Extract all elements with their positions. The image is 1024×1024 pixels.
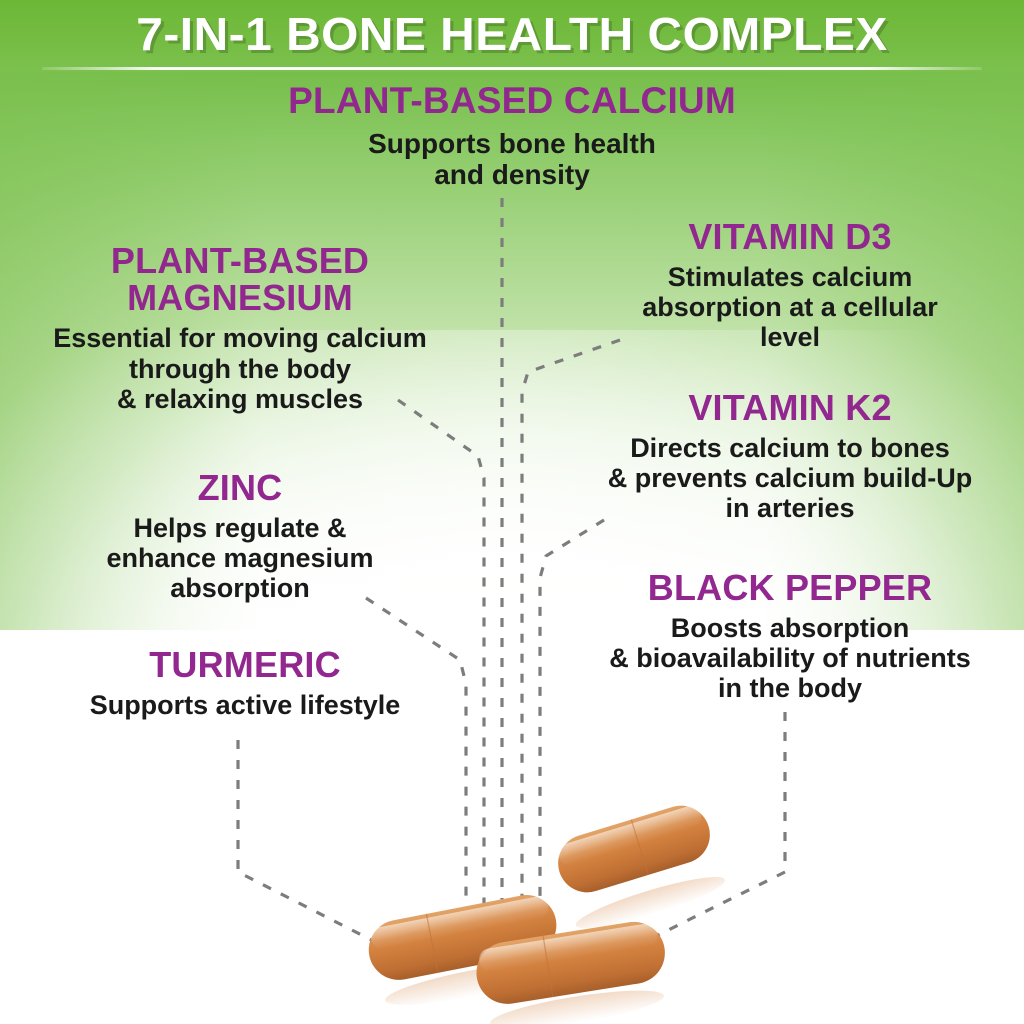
ingredient-zinc: ZINC Helps regulate &enhance magnesiumab… [40, 470, 440, 603]
ingredient-name: TURMERIC [10, 647, 480, 684]
ingredient-description: Helps regulate &enhance magnesiumabsorpt… [40, 513, 440, 604]
ingredient-turmeric: TURMERIC Supports active lifestyle [10, 647, 480, 720]
ingredient-name: PLANT-BASED CALCIUM [182, 82, 842, 120]
ingredient-black-pepper: BLACK PEPPER Boosts absorption& bioavail… [556, 570, 1024, 703]
ingredient-vitamin-d3: VITAMIN D3 Stimulates calciumabsorption … [562, 219, 1018, 352]
ingredient-name: PLANT-BASEDMAGNESIUM [0, 243, 480, 316]
ingredient-name: ZINC [40, 470, 440, 507]
page-title: 7-IN-1 BONE HEALTH COMPLEX [0, 2, 1024, 66]
ingredient-description: Essential for moving calciumthrough the … [0, 323, 480, 414]
ingredient-vitamin-k2: VITAMIN K2 Directs calcium to bones& pre… [560, 390, 1020, 523]
infographic-poster: 7-IN-1 BONE HEALTH COMPLEX [0, 0, 1024, 1024]
ingredient-name: VITAMIN D3 [562, 219, 1018, 256]
ingredient-plant-based-magnesium: PLANT-BASEDMAGNESIUM Essential for movin… [0, 243, 480, 414]
ingredient-description: Directs calcium to bones& prevents calci… [560, 433, 1020, 524]
ingredient-description: Supports active lifestyle [10, 690, 480, 720]
ingredient-description: Stimulates calciumabsorption at a cellul… [562, 262, 1018, 353]
ingredient-name: VITAMIN K2 [560, 390, 1020, 427]
header-divider [42, 67, 982, 70]
ingredient-description: Boosts absorption& bioavailability of nu… [556, 613, 1024, 704]
ingredient-plant-based-calcium: PLANT-BASED CALCIUM Supports bone health… [182, 82, 842, 190]
ingredient-description: Supports bone healthand density [182, 128, 842, 191]
ingredient-name: BLACK PEPPER [556, 570, 1024, 607]
